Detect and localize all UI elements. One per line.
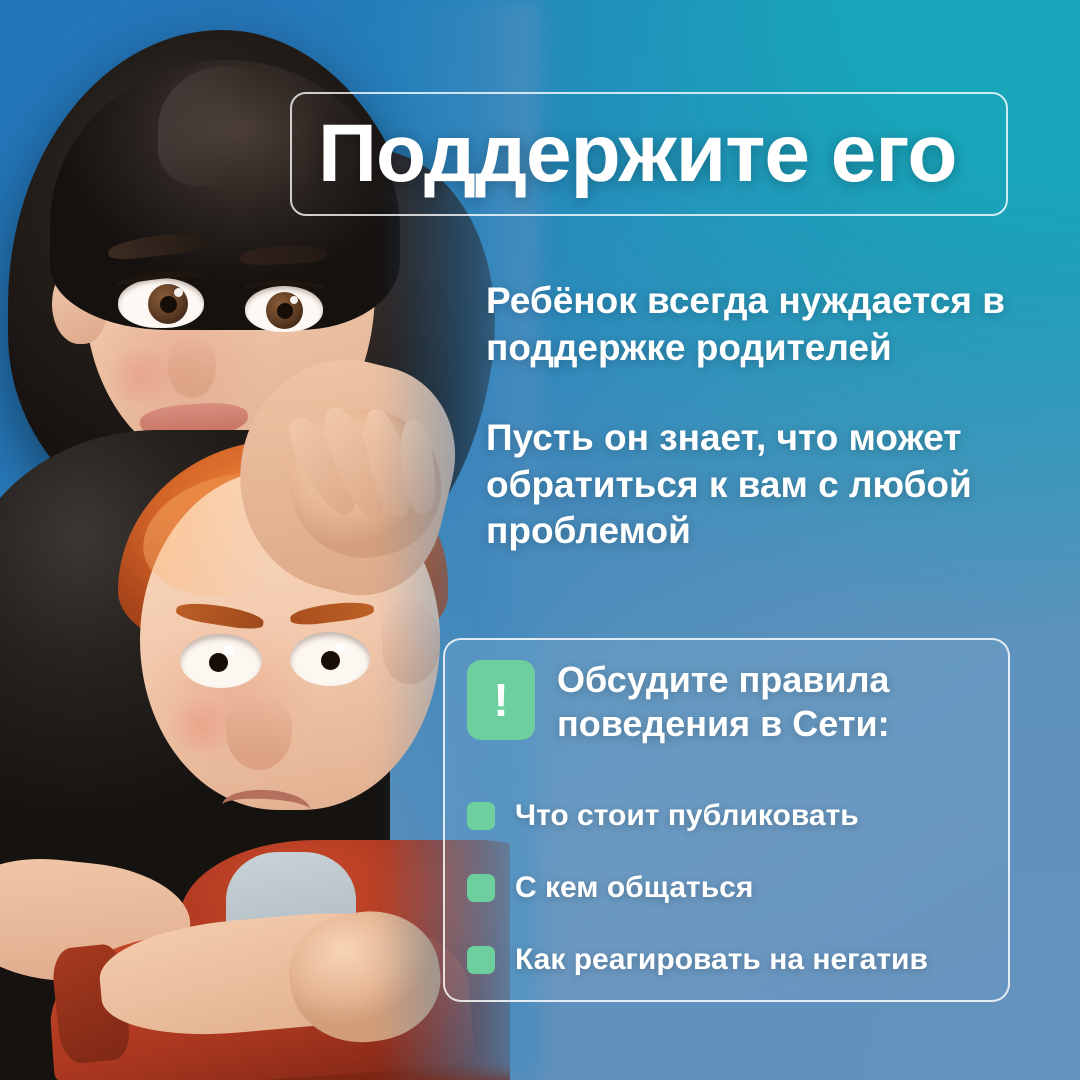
exclamation-icon: ! bbox=[467, 660, 535, 740]
body-copy: Ребёнок всегда нуждается в поддержке род… bbox=[486, 278, 1016, 555]
green-square-bullet-icon bbox=[467, 946, 495, 974]
page-title: Поддержите его bbox=[318, 113, 957, 195]
rules-list: Что стоит публиковать С кем общаться Как… bbox=[467, 780, 986, 996]
green-square-bullet-icon bbox=[467, 802, 495, 830]
title-box: Поддержите его bbox=[290, 92, 1008, 216]
list-item-label: С кем общаться bbox=[515, 871, 753, 905]
rules-card: ! Обсудите правила поведения в Сети: Что… bbox=[443, 638, 1010, 1002]
rules-card-header: ! Обсудите правила поведения в Сети: bbox=[467, 658, 986, 746]
list-item: С кем общаться bbox=[467, 852, 986, 924]
exclamation-glyph: ! bbox=[493, 677, 508, 723]
list-item-label: Как реагировать на негатив bbox=[515, 943, 928, 977]
list-item: Как реагировать на негатив bbox=[467, 924, 986, 996]
green-square-bullet-icon bbox=[467, 874, 495, 902]
list-item-label: Что стоит публиковать bbox=[515, 799, 859, 833]
paragraph-2: Пусть он знает, что может обратиться к в… bbox=[486, 415, 1016, 555]
rules-card-heading: Обсудите правила поведения в Сети: bbox=[557, 658, 986, 746]
list-item: Что стоит публиковать bbox=[467, 780, 986, 852]
paragraph-1: Ребёнок всегда нуждается в поддержке род… bbox=[486, 278, 1016, 371]
poster-root: Поддержите его Ребёнок всегда нуждается … bbox=[0, 0, 1080, 1080]
